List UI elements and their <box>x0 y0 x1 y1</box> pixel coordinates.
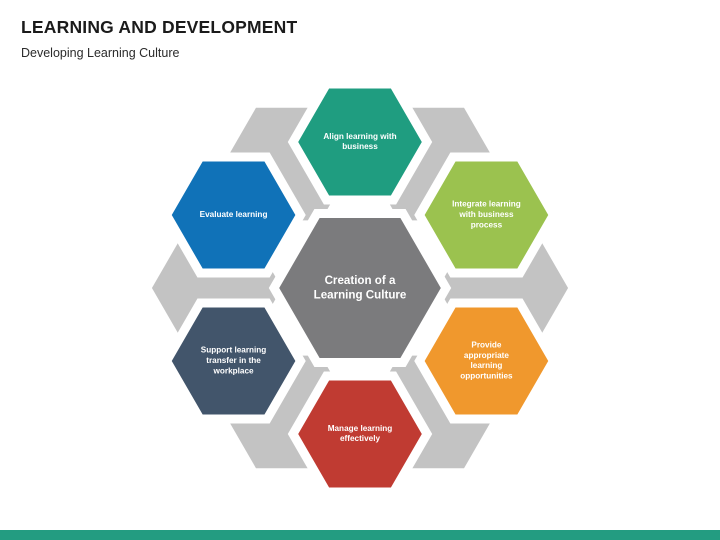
hexagon-label-evaluate-learning: Evaluate learning <box>200 210 268 219</box>
bottom-accent-bar <box>0 530 720 540</box>
hexagon-diagram: Align learning withbusinessIntegrate lea… <box>0 0 720 540</box>
slide-canvas: LEARNING AND DEVELOPMENT Developing Lear… <box>0 0 720 540</box>
hexagon-label-center-hex: Creation of aLearning Culture <box>314 274 407 302</box>
